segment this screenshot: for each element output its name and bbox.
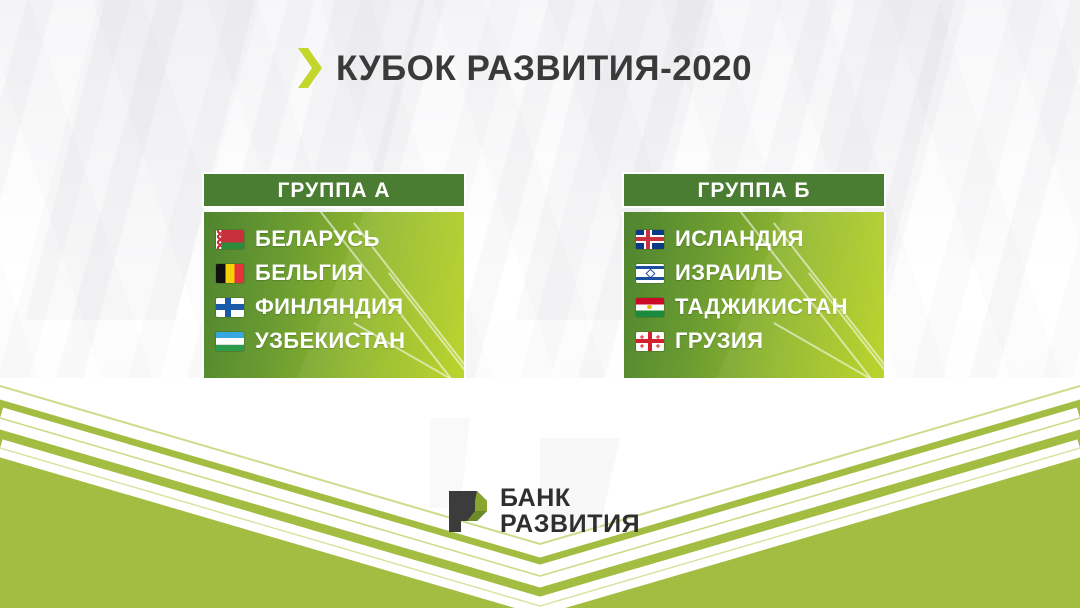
team-name: УЗБЕКИСТАН xyxy=(255,330,405,352)
flag-georgia-icon xyxy=(636,332,664,351)
team-row: ФИНЛЯНДИЯ xyxy=(216,290,464,324)
flag-finland-icon xyxy=(216,298,244,317)
flag-iceland-icon xyxy=(636,230,664,249)
group-b-title: ГРУППА Б xyxy=(698,180,811,201)
team-row: БЕЛЬГИЯ xyxy=(216,256,464,290)
team-row: ИЗРАИЛЬ xyxy=(636,256,884,290)
group-a-body: БЕЛАРУСЬ БЕЛЬГИЯ ФИНЛЯНДИЯ УЗБЕКИСТАН xyxy=(202,212,466,388)
flag-belgium-icon xyxy=(216,264,244,283)
team-name: БЕЛАРУСЬ xyxy=(255,228,380,250)
flag-belarus-icon xyxy=(216,230,244,249)
bank-logo: БАНК РАЗВИТИЯ xyxy=(447,486,640,537)
bank-logo-text: БАНК РАЗВИТИЯ xyxy=(500,486,640,537)
group-a-header: ГРУППА А xyxy=(202,172,466,208)
group-b-body: ИСЛАНДИЯ ИЗРАИЛЬ ТАДЖИКИСТАН xyxy=(622,212,886,388)
team-row: УЗБЕКИСТАН xyxy=(216,324,464,358)
broadcast-graphic-stage: КУБОК РАЗВИТИЯ-2020 ГРУППА А БЕЛАРУСЬ БЕ… xyxy=(0,0,1080,608)
team-name: ИЗРАИЛЬ xyxy=(675,262,783,284)
team-row: БЕЛАРУСЬ xyxy=(216,222,464,256)
bank-razvitiya-logo-icon xyxy=(447,489,489,534)
bank-logo-line-1: БАНК xyxy=(500,486,640,512)
team-name: БЕЛЬГИЯ xyxy=(255,262,364,284)
team-row: ИСЛАНДИЯ xyxy=(636,222,884,256)
team-row: ГРУЗИЯ xyxy=(636,324,884,358)
chevron-right-icon xyxy=(296,46,322,90)
team-name: ФИНЛЯНДИЯ xyxy=(255,296,404,318)
group-b-header: ГРУППА Б xyxy=(622,172,886,208)
team-name: ИСЛАНДИЯ xyxy=(675,228,804,250)
bank-logo-line-2: РАЗВИТИЯ xyxy=(500,512,640,538)
page-title: КУБОК РАЗВИТИЯ-2020 xyxy=(336,51,752,86)
group-a-team-list: БЕЛАРУСЬ БЕЛЬГИЯ ФИНЛЯНДИЯ УЗБЕКИСТАН xyxy=(204,212,464,358)
team-name: ТАДЖИКИСТАН xyxy=(675,296,848,318)
group-a-title: ГРУППА А xyxy=(277,180,390,201)
flag-israel-icon xyxy=(636,264,664,283)
group-b-team-list: ИСЛАНДИЯ ИЗРАИЛЬ ТАДЖИКИСТАН xyxy=(624,212,884,358)
team-name: ГРУЗИЯ xyxy=(675,330,763,352)
flag-tajikistan-icon xyxy=(636,298,664,317)
flag-uzbekistan-icon xyxy=(216,332,244,351)
page-title-row: КУБОК РАЗВИТИЯ-2020 xyxy=(296,46,752,90)
team-row: ТАДЖИКИСТАН xyxy=(636,290,884,324)
